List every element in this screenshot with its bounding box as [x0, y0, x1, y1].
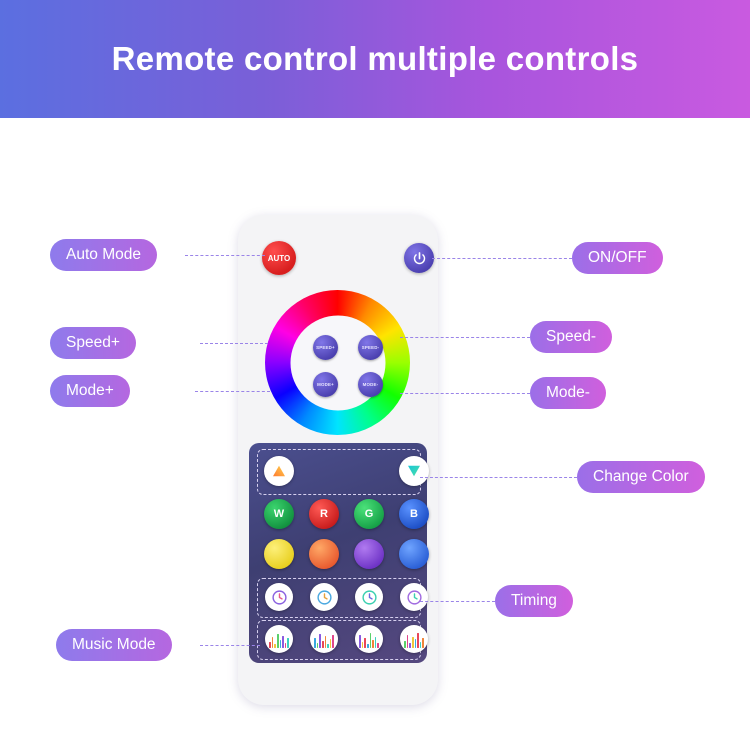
leader-mode-plus: [195, 391, 270, 392]
color-button-g[interactable]: G: [354, 499, 384, 529]
leader-speed-plus: [200, 343, 268, 344]
clock-2h-icon: [316, 589, 333, 606]
leader-music-mode: [200, 645, 260, 646]
brightness-up-button[interactable]: [264, 456, 294, 486]
leader-timing: [420, 601, 495, 602]
auto-button[interactable]: AUTO: [262, 241, 296, 275]
timing-button-3[interactable]: [355, 583, 383, 611]
callout-speed-minus[interactable]: Speed-: [530, 321, 612, 353]
color-button-w[interactable]: W: [264, 499, 294, 529]
leader-speed-minus: [400, 337, 530, 338]
callout-auto-mode[interactable]: Auto Mode: [50, 239, 157, 271]
timing-button-1[interactable]: [265, 583, 293, 611]
color-swatch-1[interactable]: [264, 539, 294, 569]
color-swatch-2[interactable]: [309, 539, 339, 569]
color-swatch-4[interactable]: [399, 539, 429, 569]
music-button-3[interactable]: [355, 625, 383, 653]
power-button[interactable]: [404, 243, 434, 273]
triangle-up-icon: [270, 462, 288, 480]
callout-mode-plus[interactable]: Mode+: [50, 375, 130, 407]
music-bars-2-icon: [314, 632, 334, 648]
callout-music-mode[interactable]: Music Mode: [56, 629, 172, 661]
color-swatch-3[interactable]: [354, 539, 384, 569]
music-bars-3-icon: [359, 632, 379, 648]
music-bars-1-icon: [269, 632, 289, 648]
timing-button-4[interactable]: [400, 583, 428, 611]
page-title: Remote control multiple controls: [112, 40, 639, 78]
brightness-down-button[interactable]: [399, 456, 429, 486]
speed-minus-button[interactable]: SPEED-: [358, 335, 383, 360]
music-button-1[interactable]: [265, 625, 293, 653]
callout-speed-plus[interactable]: Speed+: [50, 327, 136, 359]
callout-timing[interactable]: Timing: [495, 585, 573, 617]
music-button-4[interactable]: [400, 625, 428, 653]
color-wheel[interactable]: [265, 290, 410, 435]
color-button-r[interactable]: R: [309, 499, 339, 529]
callout-change-color[interactable]: Change Color: [577, 461, 705, 493]
power-icon: [412, 251, 427, 266]
speed-plus-button[interactable]: SPEED+: [313, 335, 338, 360]
leader-mode-minus: [400, 393, 530, 394]
music-bars-4-icon: [404, 632, 424, 648]
callout-on-off[interactable]: ON/OFF: [572, 242, 663, 274]
clock-1h-icon: [271, 589, 288, 606]
leader-auto-mode: [185, 255, 265, 256]
mode-plus-button[interactable]: MODE+: [313, 372, 338, 397]
color-button-b[interactable]: B: [399, 499, 429, 529]
page-header: Remote control multiple controls: [0, 0, 750, 118]
music-button-2[interactable]: [310, 625, 338, 653]
leader-change-color: [420, 477, 577, 478]
clock-4h-icon: [406, 589, 423, 606]
callout-mode-minus[interactable]: Mode-: [530, 377, 606, 409]
clock-3h-icon: [361, 589, 378, 606]
timing-button-2[interactable]: [310, 583, 338, 611]
leader-onoff: [432, 258, 572, 259]
mode-minus-button[interactable]: MODE-: [358, 372, 383, 397]
